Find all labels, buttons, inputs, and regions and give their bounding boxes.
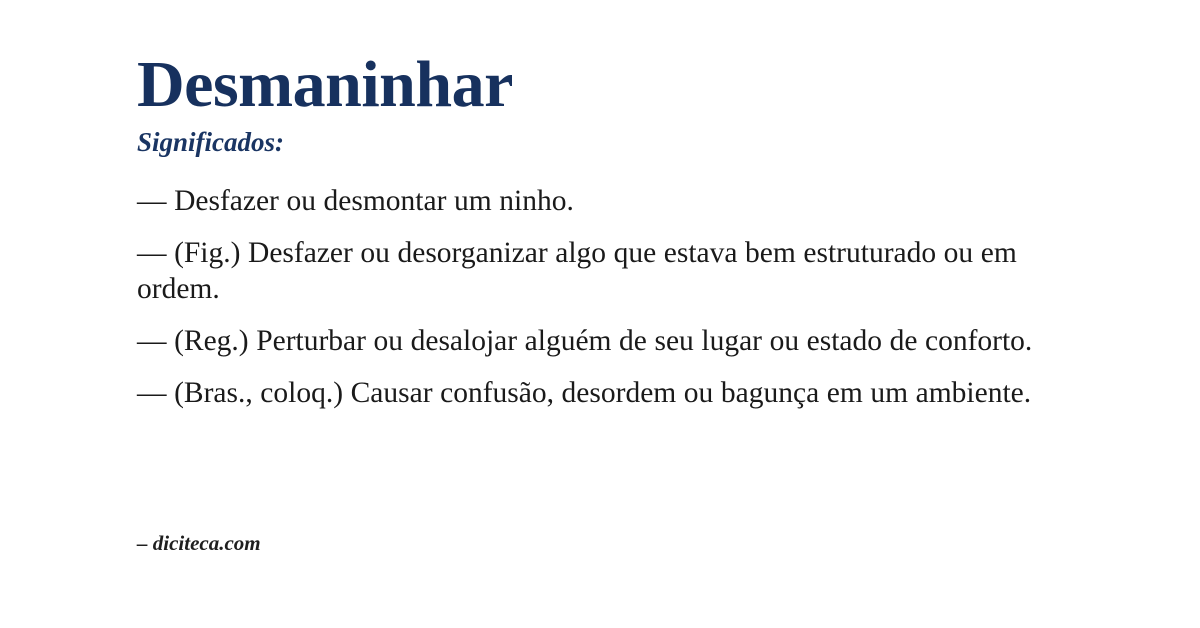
list-item: — (Bras., coloq.) Causar confusão, desor… [137, 375, 1055, 411]
em-dash-bullet-icon: — [137, 377, 167, 409]
definition-text: (Bras., coloq.) Causar confusão, desorde… [174, 377, 1031, 409]
definitions-list: — Desfazer ou desmontar um ninho. — (Fig… [137, 183, 1055, 411]
em-dash-bullet-icon: — [137, 325, 167, 357]
em-dash-bullet-icon: — [137, 237, 167, 269]
list-item: — (Fig.) Desfazer ou desorganizar algo q… [137, 235, 1055, 307]
source-attribution: – diciteca.com [137, 533, 261, 554]
source-name: diciteca.com [153, 531, 261, 555]
em-dash-bullet-icon: — [137, 185, 167, 217]
meanings-label: Significados: [137, 129, 284, 156]
definition-text: (Reg.) Perturbar ou desalojar alguém de … [174, 325, 1032, 357]
list-item: — (Reg.) Perturbar ou desalojar alguém d… [137, 323, 1055, 359]
definition-text: Desfazer ou desmontar um ninho. [174, 185, 574, 217]
dictionary-word-card: Desmaninhar Significados: — Desfazer ou … [0, 0, 1200, 628]
page-title: Desmaninhar [137, 52, 513, 118]
en-dash-icon: – [137, 531, 148, 555]
list-item: — Desfazer ou desmontar um ninho. [137, 183, 1055, 219]
definition-text: (Fig.) Desfazer ou desorganizar algo que… [137, 237, 1017, 305]
